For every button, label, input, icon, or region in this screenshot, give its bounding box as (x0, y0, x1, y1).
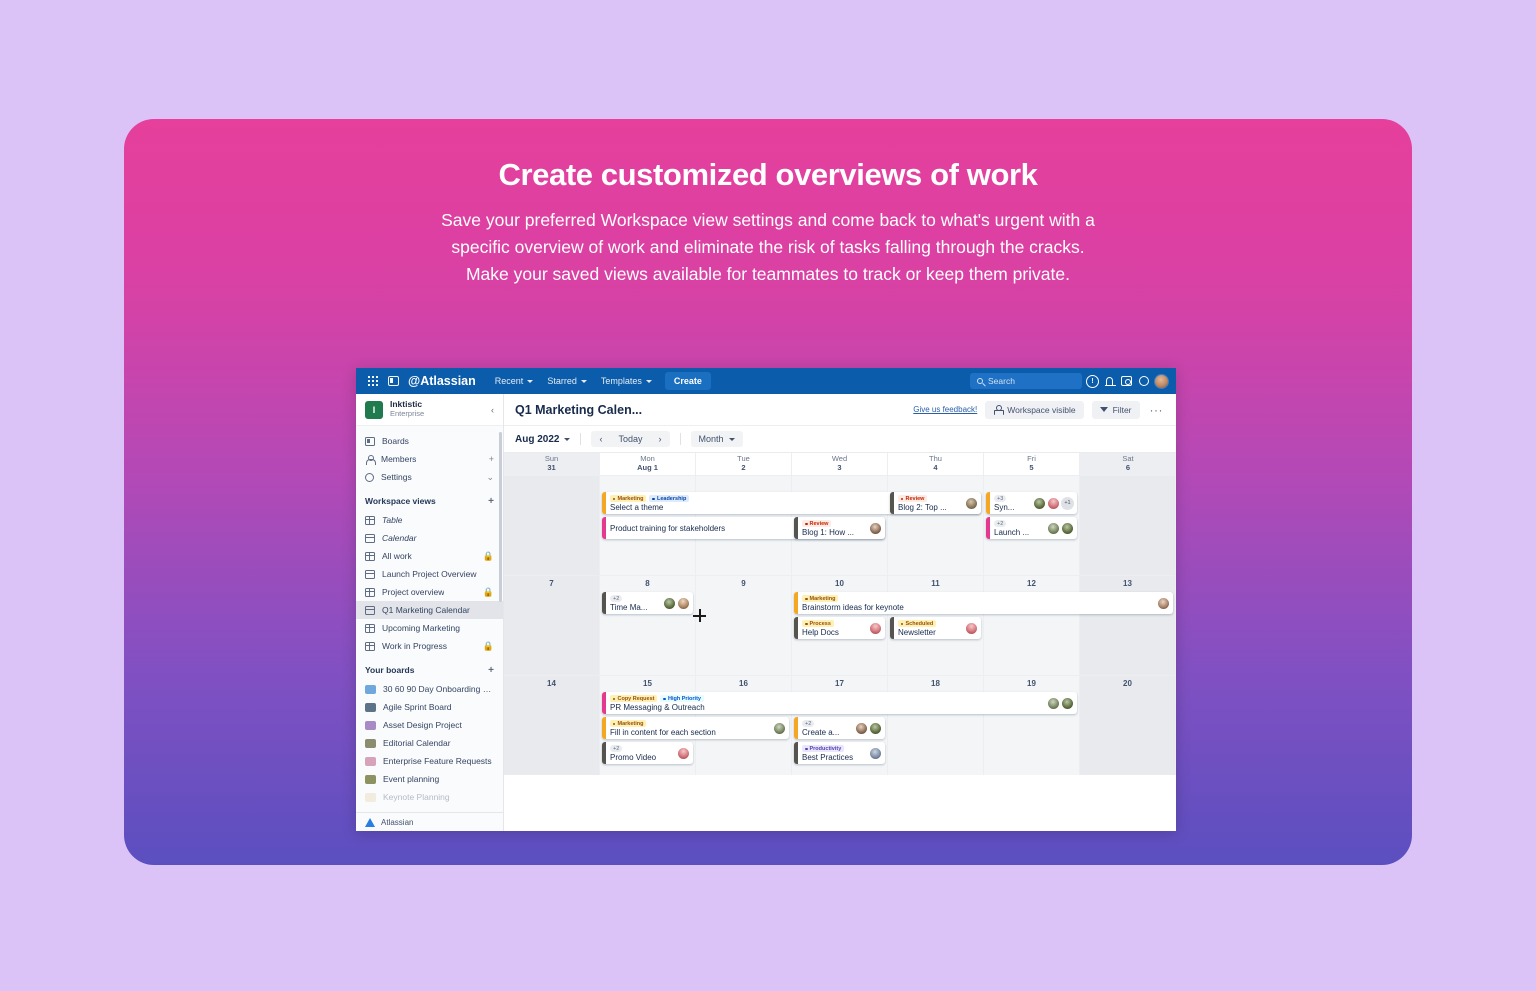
calendar-event-card[interactable]: ReviewBlog 2: Top ... (890, 492, 981, 514)
event-tag: Process (802, 620, 834, 627)
calendar-day-cell[interactable]: 8 (600, 576, 696, 675)
sidebar-item-label: Settings (381, 472, 412, 482)
event-assignees (869, 617, 885, 639)
avatar[interactable] (1061, 522, 1074, 535)
period-label: Aug 2022 (515, 434, 559, 445)
avatar[interactable] (663, 597, 676, 610)
nav-starred[interactable]: Starred (540, 373, 594, 389)
sidebar-item-label: Calendar (382, 533, 417, 543)
workspace-plan: Enterprise (390, 410, 484, 419)
page-root: Create customized overviews of work Save… (0, 0, 1536, 991)
event-tag: Review (898, 495, 927, 502)
event-body: +2Create a... (798, 717, 855, 739)
event-title: Time Ma... (610, 603, 659, 612)
event-title: Newsletter (898, 628, 961, 637)
sidebar-item-boards[interactable]: Boards (356, 432, 503, 450)
avatar[interactable] (965, 497, 978, 510)
event-tag: Scheduled (898, 620, 936, 627)
day-number: 12 (984, 579, 1079, 588)
event-title: Launch ... (994, 528, 1043, 537)
event-assignees (1047, 517, 1077, 539)
board-thumbnail (365, 685, 376, 694)
event-body: ReviewBlog 2: Top ... (894, 492, 965, 514)
event-tag-label: Productivity (810, 746, 842, 752)
view-header-actions: Give us feedback! Workspace visible Filt… (913, 401, 1165, 419)
event-body: +3Syn... (990, 492, 1033, 514)
app-screenshot-window: @Atlassian Recent Starred Templates Crea… (356, 368, 1176, 831)
event-tag: Productivity (802, 745, 844, 752)
calendar-icon (365, 606, 375, 615)
calendar-day-cell[interactable]: 7 (504, 576, 600, 675)
calendar-icon (365, 570, 375, 579)
give-us-feedback-link[interactable]: Give us feedback! (913, 405, 977, 414)
chevron-down-icon[interactable]: ⌄ (486, 472, 494, 483)
table-icon (365, 516, 375, 525)
event-tag-list: Marketing (610, 720, 769, 727)
weekday-date: Aug 1 (637, 464, 658, 473)
top-navigation-bar: @Atlassian Recent Starred Templates Crea… (356, 368, 1176, 394)
sidebar-item-label: Boards (382, 436, 409, 446)
day-number: 7 (504, 579, 599, 588)
help-circle-icon[interactable]: ! (1086, 375, 1099, 388)
avatar[interactable] (965, 622, 978, 635)
table-icon (365, 588, 375, 597)
event-assignees (1047, 692, 1077, 714)
event-assignees (663, 592, 693, 614)
user-avatar[interactable] (1154, 374, 1169, 389)
event-tag-label: Review (905, 496, 924, 502)
chevron-down-icon (527, 380, 533, 383)
event-tag-label: Marketing (617, 496, 643, 502)
sidebar: I Inktistic Enterprise ‹ Boards (356, 394, 504, 831)
weekday-date: 5 (1029, 464, 1033, 473)
calendar-toolbar: Aug 2022 ‹ Today › Month (504, 426, 1176, 453)
event-body: ProductivityBest Practices (798, 742, 869, 764)
avatar[interactable] (869, 622, 882, 635)
nav-starred-label: Starred (547, 376, 577, 386)
view-title: Q1 Marketing Calen... (515, 403, 642, 417)
sidebar-board-item[interactable]: Enterprise Feature Requests (356, 752, 503, 770)
weekday-header-cell: Fri 5 (984, 453, 1080, 475)
event-extra-badge: +2 (610, 745, 622, 752)
event-body: +2Time Ma... (606, 592, 663, 614)
event-body: ScheduledNewsletter (894, 617, 965, 639)
event-body: ReviewBlog 1: How ... (798, 517, 869, 539)
weekday-header-cell: Tue 2 (696, 453, 792, 475)
prev-period-button[interactable]: ‹ (591, 431, 610, 447)
sidebar-item-settings[interactable]: Settings ⌄ (356, 468, 503, 486)
nav-recent[interactable]: Recent (488, 373, 541, 389)
avatar[interactable] (773, 722, 786, 735)
calendar-week-row: MarketingLeadershipSelect a themeProduct… (504, 475, 1176, 575)
tag-dot-icon (901, 623, 904, 626)
sidebar-item-label: Project overview (382, 587, 444, 597)
board-product-icon[interactable] (383, 371, 403, 391)
event-tag: Marketing (610, 495, 646, 502)
search-icon (977, 378, 983, 384)
avatar[interactable] (1047, 497, 1060, 510)
chevron-down-icon (581, 380, 587, 383)
day-number: 13 (1080, 579, 1175, 588)
search-input[interactable]: Search (970, 373, 1082, 389)
more-options-button[interactable]: ··· (1148, 403, 1166, 417)
weekday-date: 4 (933, 464, 937, 473)
sidebar-item-label: Enterprise Feature Requests (383, 756, 492, 766)
toolbar-divider (680, 433, 681, 445)
sidebar-footer[interactable]: Atlassian (356, 812, 503, 831)
your-boards-title: Your boards (365, 665, 414, 675)
tag-dot-icon (663, 698, 666, 701)
event-tag: Marketing (802, 595, 838, 602)
event-body: +2Promo Video (606, 742, 677, 764)
event-extra-badge: +2 (802, 720, 814, 727)
table-icon (365, 552, 375, 561)
day-number: 18 (888, 679, 983, 688)
event-tag-list: Process (802, 620, 865, 627)
calendar-event-card[interactable]: ScheduledNewsletter (890, 617, 981, 639)
next-period-button[interactable]: › (651, 431, 670, 447)
weekday-date: 6 (1126, 464, 1130, 473)
toolbar-divider (580, 433, 581, 445)
sidebar-scrollbar[interactable] (499, 432, 502, 602)
lock-icon: 🔒 (483, 551, 494, 562)
view-header: Q1 Marketing Calen... Give us feedback! … (504, 394, 1176, 426)
your-boards-header: Your boards + (356, 660, 503, 680)
sidebar-item-label: Launch Project Overview (382, 569, 477, 579)
scale-label: Month (699, 434, 724, 444)
sidebar-item-label: Editorial Calendar (383, 738, 451, 748)
calendar-event-card[interactable]: ProductivityBest Practices (794, 742, 885, 764)
board-thumbnail (365, 793, 376, 802)
table-icon (365, 642, 375, 651)
sidebar-item-label: Keynote Planning (383, 792, 450, 802)
calendar-week-row: 14151617181920Copy RequestHigh PriorityP… (504, 675, 1176, 775)
person-icon (365, 455, 374, 464)
sidebar-item-label: Members (381, 454, 416, 464)
board-thumbnail (365, 775, 376, 784)
grid-apps-icon[interactable] (363, 371, 383, 391)
event-title: PR Messaging & Outreach (610, 703, 1043, 712)
board-thumbnail (365, 721, 376, 730)
workspace-visible-button[interactable]: Workspace visible (985, 401, 1083, 419)
tag-dot-icon (613, 498, 616, 501)
event-extra-badge: +3 (994, 495, 1006, 502)
day-number: 8 (600, 579, 695, 588)
event-title: Promo Video (610, 753, 673, 762)
calendar-day-cell[interactable]: 12 (984, 576, 1080, 675)
sidebar-item-label: Agile Sprint Board (383, 702, 452, 712)
atlassian-logo-icon (365, 818, 375, 827)
event-assignees (869, 517, 885, 539)
avatar[interactable] (869, 747, 882, 760)
event-body: Copy RequestHigh PriorityPR Messaging & … (606, 692, 1047, 714)
chevron-left-icon[interactable]: ‹ (491, 405, 494, 415)
calendar-day-cell[interactable] (504, 476, 600, 575)
sidebar-scroll-area: Boards Members + Settings ⌄ (356, 426, 503, 812)
sidebar-footer-label: Atlassian (381, 818, 413, 827)
day-number: 17 (792, 679, 887, 688)
sidebar-view-launch-project-overview[interactable]: Launch Project Overview (356, 565, 503, 583)
day-number: 15 (600, 679, 695, 688)
tag-dot-icon (805, 523, 808, 526)
tag-dot-icon (613, 698, 616, 701)
event-body: +2Launch ... (990, 517, 1047, 539)
event-tag-list: Scheduled (898, 620, 961, 627)
calendar-event-card[interactable]: MarketingBrainstorm ideas for keynote (794, 592, 1173, 614)
calendar-event-card[interactable]: MarketingFill in content for each sectio… (602, 717, 789, 739)
nav-recent-label: Recent (495, 376, 524, 386)
calendar-day-cell[interactable] (1080, 476, 1176, 575)
nav-templates[interactable]: Templates (594, 373, 659, 389)
calendar-grid: Sun 31 Mon Aug 1 Tue 2 (504, 453, 1176, 831)
tag-dot-icon (652, 498, 655, 501)
event-assignees (869, 742, 885, 764)
date-nav-group: ‹ Today › (591, 431, 669, 447)
promo-subtitle: Save your preferred Workspace view setti… (438, 207, 1098, 288)
weekday-header-cell: Sat 6 (1080, 453, 1176, 475)
sidebar-item-label: Upcoming Marketing (382, 623, 460, 633)
tag-dot-icon (805, 623, 808, 626)
event-assignees (677, 742, 693, 764)
event-tag: Marketing (610, 720, 646, 727)
event-tag-list: Review (802, 520, 865, 527)
promo-card: Create customized overviews of work Save… (124, 119, 1412, 865)
calendar-event-card[interactable]: +2Promo Video (602, 742, 693, 764)
avatar[interactable] (1047, 522, 1060, 535)
weekday-header-row: Sun 31 Mon Aug 1 Tue 2 (504, 453, 1176, 475)
event-tag: Leadership (649, 495, 689, 502)
sidebar-item-label: 30 60 90 Day Onboarding Pl... (383, 684, 494, 694)
day-number: 20 (1080, 679, 1175, 688)
avatar[interactable] (1061, 697, 1074, 710)
event-assignees (965, 492, 981, 514)
main-content: Q1 Marketing Calen... Give us feedback! … (504, 394, 1176, 831)
weekday-date: 31 (547, 464, 555, 473)
board-icon (365, 437, 375, 446)
tag-dot-icon (613, 723, 616, 726)
event-title: Help Docs (802, 628, 865, 637)
weekday-date: 3 (837, 464, 841, 473)
notification-bell-icon[interactable] (1103, 375, 1116, 388)
sidebar-board-item[interactable]: Agile Sprint Board (356, 698, 503, 716)
event-extra-badge: +2 (610, 595, 622, 602)
brand-label[interactable]: @Atlassian (408, 374, 476, 388)
avatar[interactable] (677, 597, 690, 610)
gear-icon (365, 473, 374, 482)
sidebar-item-label: Q1 Marketing Calendar (382, 605, 470, 615)
sidebar-item-members[interactable]: Members + (356, 450, 503, 468)
topnav-right-cluster: Search ! (970, 373, 1169, 389)
day-number: 11 (888, 579, 983, 588)
tag-dot-icon (805, 748, 808, 751)
event-assignees (855, 717, 885, 739)
weekday-header-cell: Mon Aug 1 (600, 453, 696, 475)
event-body: MarketingFill in content for each sectio… (606, 717, 773, 739)
calendar-day-cell[interactable]: 9 (696, 576, 792, 675)
avatar-overflow-count[interactable]: +1 (1061, 497, 1074, 510)
event-tag-list: Marketing (802, 595, 1153, 602)
event-title: Best Practices (802, 753, 865, 762)
lock-icon: 🔒 (483, 587, 494, 598)
calendar-event-card[interactable]: Copy RequestHigh PriorityPR Messaging & … (602, 692, 1077, 714)
search-placeholder: Search (988, 376, 1015, 386)
event-assignees (1157, 592, 1173, 614)
sidebar-item-label: All work (382, 551, 412, 561)
weekday-header-cell: Sun 31 (504, 453, 600, 475)
calendar-day-cell[interactable]: 13 (1080, 576, 1176, 675)
create-button[interactable]: Create (665, 372, 711, 390)
sidebar-board-item[interactable]: 30 60 90 Day Onboarding Pl... (356, 680, 503, 698)
workspace-logo: I (365, 401, 383, 419)
sidebar-view-work-in-progress[interactable]: Work in Progress 🔒 (356, 637, 503, 655)
sidebar-item-label: Table (382, 515, 402, 525)
event-tag: High Priority (660, 695, 704, 702)
sidebar-item-label: Work in Progress (382, 641, 447, 651)
chevron-down-icon (564, 438, 570, 441)
event-tag-label: Review (810, 521, 829, 527)
avatar[interactable] (855, 722, 868, 735)
workspace-views-header: Workspace views + (356, 491, 503, 511)
today-button[interactable]: Today (610, 431, 650, 447)
event-tag-label: Process (810, 621, 831, 627)
event-title: Create a... (802, 728, 851, 737)
calendar-event-card[interactable]: +2Time Ma... (602, 592, 693, 614)
calendar-event-card[interactable]: +2Create a... (794, 717, 885, 739)
tag-dot-icon (901, 498, 904, 501)
avatar[interactable] (869, 722, 882, 735)
event-tag-label: High Priority (668, 696, 701, 702)
day-number: 14 (504, 679, 599, 688)
event-extra-badge: +2 (994, 520, 1006, 527)
tag-dot-icon (805, 598, 808, 601)
event-body: ProcessHelp Docs (798, 617, 869, 639)
add-member-button[interactable]: + (489, 454, 494, 464)
event-title: Fill in content for each section (610, 728, 769, 737)
avatar[interactable] (1033, 497, 1046, 510)
chevron-down-icon (646, 380, 652, 383)
sidebar-board-item[interactable]: Asset Design Project (356, 716, 503, 734)
calendar-day-cell[interactable]: 20 (1080, 676, 1176, 775)
sidebar-view-q1-marketing-calendar[interactable]: Q1 Marketing Calendar (356, 601, 503, 619)
sidebar-view-project-overview[interactable]: Project overview 🔒 (356, 583, 503, 601)
nav-templates-label: Templates (601, 376, 642, 386)
weekday-header-cell: Thu 4 (888, 453, 984, 475)
calendar-day-cell[interactable] (888, 476, 984, 575)
add-board-button[interactable]: + (488, 665, 494, 676)
event-tag-list: Copy RequestHigh Priority (610, 695, 1043, 702)
event-tag-label: Copy Request (617, 696, 654, 702)
sidebar-item-label: Event planning (383, 774, 439, 784)
event-tag-label: Marketing (617, 721, 643, 727)
event-title: Brainstorm ideas for keynote (802, 603, 1153, 612)
board-thumbnail (365, 703, 376, 712)
day-number: 16 (696, 679, 791, 688)
day-number: 9 (696, 579, 791, 588)
day-number: 10 (792, 579, 887, 588)
event-assignees (965, 617, 981, 639)
event-tag-label: Marketing (810, 596, 836, 602)
calendar-icon (365, 534, 375, 543)
sidebar-view-table[interactable]: Table (356, 511, 503, 529)
lock-icon: 🔒 (483, 641, 494, 652)
sidebar-item-label: Asset Design Project (383, 720, 462, 730)
avatar[interactable] (869, 522, 882, 535)
avatar[interactable] (1047, 697, 1060, 710)
period-selector[interactable]: Aug 2022 (515, 434, 570, 445)
event-assignees (773, 717, 789, 739)
event-assignees: +1 (1033, 492, 1077, 514)
avatar[interactable] (677, 747, 690, 760)
page-title: Create customized overviews of work (124, 157, 1412, 193)
calendar-event-card[interactable]: +3Syn...+1 (986, 492, 1077, 514)
funnel-icon (1100, 407, 1108, 412)
chevron-down-icon (729, 438, 735, 441)
workspace-visible-label: Workspace visible (1007, 405, 1075, 415)
filter-label: Filter (1113, 405, 1132, 415)
table-icon (365, 624, 375, 633)
add-view-button[interactable]: + (488, 496, 494, 507)
weekday-header-cell: Wed 3 (792, 453, 888, 475)
sidebar-board-item[interactable]: Keynote Planning (356, 788, 503, 806)
board-thumbnail (365, 757, 376, 766)
event-title: Blog 1: How ... (802, 528, 865, 537)
avatar[interactable] (1157, 597, 1170, 610)
sidebar-view-calendar[interactable]: Calendar (356, 529, 503, 547)
weekday-date: 2 (741, 464, 745, 473)
event-tag-list: Productivity (802, 745, 865, 752)
calendar-week-row: 78910111213+2Time Ma...MarketingBrainsto… (504, 575, 1176, 675)
event-tag: Copy Request (610, 695, 657, 702)
sidebar-board-item[interactable]: Event planning (356, 770, 503, 788)
calendar-event-card[interactable]: ReviewBlog 1: How ... (794, 517, 885, 539)
event-title: Syn... (994, 503, 1029, 512)
scale-selector[interactable]: Month (691, 431, 743, 447)
sidebar-view-upcoming-marketing[interactable]: Upcoming Marketing (356, 619, 503, 637)
event-tag-list: Review (898, 495, 961, 502)
workspace-views-title: Workspace views (365, 496, 436, 506)
calendar-day-cell[interactable]: 18 (888, 676, 984, 775)
day-number: 19 (984, 679, 1079, 688)
calendar-event-card[interactable]: ProcessHelp Docs (794, 617, 885, 639)
calendar-day-cell[interactable]: 14 (504, 676, 600, 775)
board-thumbnail (365, 739, 376, 748)
filter-button[interactable]: Filter (1092, 401, 1140, 419)
event-tag: Review (802, 520, 831, 527)
gear-icon[interactable] (1137, 375, 1150, 388)
calendar-event-card[interactable]: +2Launch ... (986, 517, 1077, 539)
event-tag-label: Leadership (657, 496, 686, 502)
workspace-header[interactable]: I Inktistic Enterprise ‹ (356, 394, 503, 426)
app-body: I Inktistic Enterprise ‹ Boards (356, 394, 1176, 831)
sidebar-view-all-work[interactable]: All work 🔒 (356, 547, 503, 565)
sidebar-board-item[interactable]: Editorial Calendar (356, 734, 503, 752)
event-title: Blog 2: Top ... (898, 503, 961, 512)
people-icon (993, 405, 1002, 414)
event-body: MarketingBrainstorm ideas for keynote (798, 592, 1157, 614)
calendar-day-cell[interactable]: 19 (984, 676, 1080, 775)
app-switcher-icon[interactable] (1120, 375, 1133, 388)
event-tag-label: Scheduled (905, 621, 933, 627)
